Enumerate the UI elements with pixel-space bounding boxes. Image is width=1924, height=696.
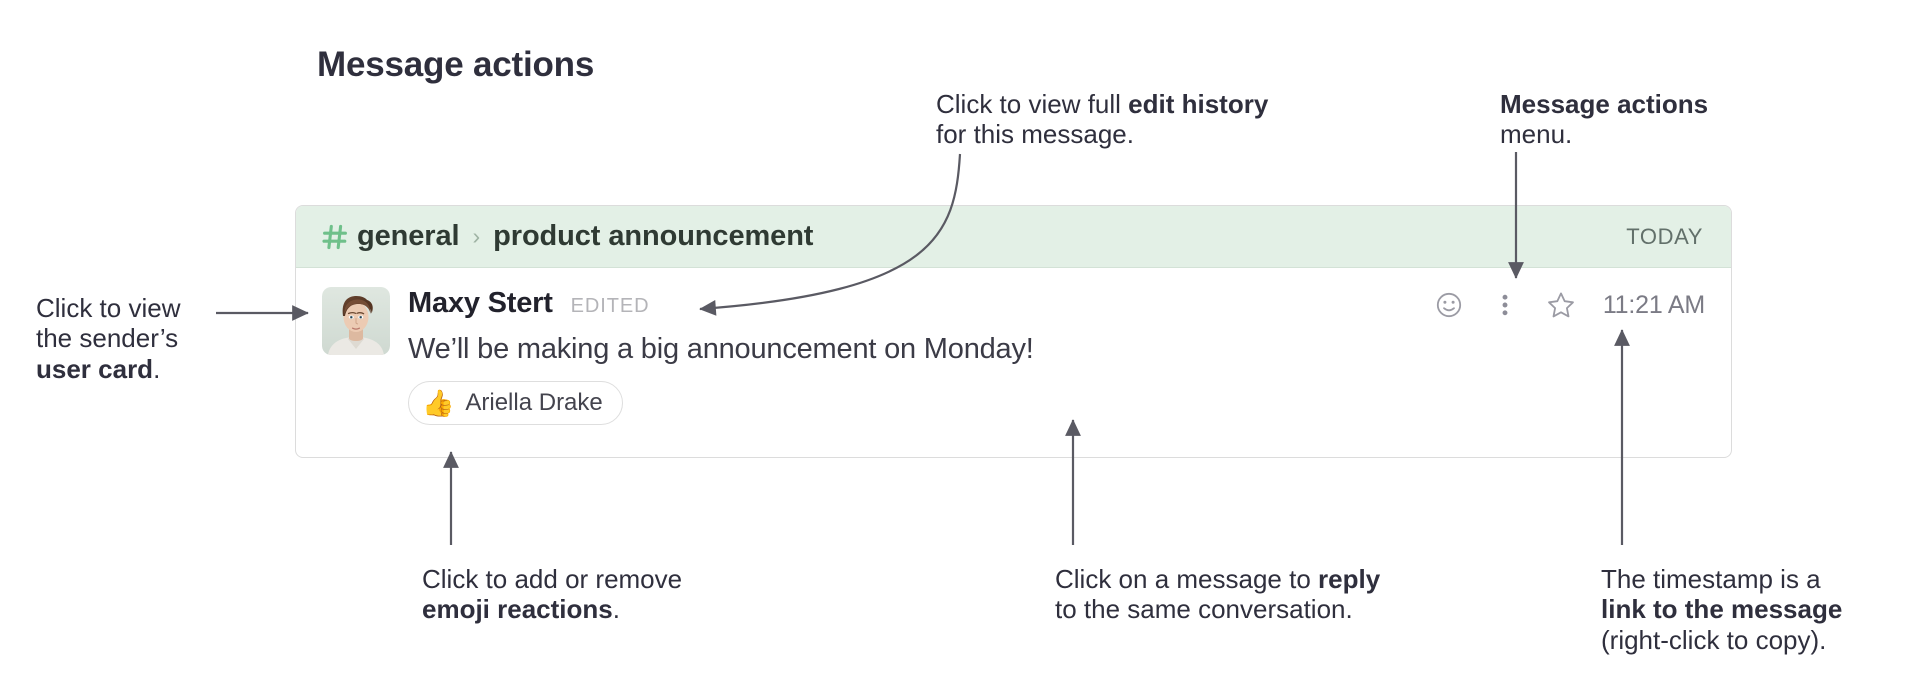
annotation-line: Click to view full edit history bbox=[936, 89, 1268, 119]
annotation-line: Click to view bbox=[36, 293, 180, 323]
annotation-edit-history: Click to view full edit history for this… bbox=[936, 89, 1268, 150]
annotation-emphasis: Message actions bbox=[1500, 89, 1708, 119]
annotation-line: to the same conversation. bbox=[1055, 594, 1380, 624]
annotation-line: menu. bbox=[1500, 119, 1708, 149]
annotation-tail: . bbox=[613, 594, 620, 624]
annotation-emphasis: edit history bbox=[1128, 89, 1268, 119]
annotation-line: (right-click to copy). bbox=[1601, 625, 1842, 655]
breadcrumb-separator-icon: › bbox=[472, 225, 480, 248]
hash-icon bbox=[322, 224, 348, 250]
recipient-bar: general › product announcement TODAY bbox=[296, 206, 1731, 268]
annotation-reply: Click on a message to reply to the same … bbox=[1055, 564, 1380, 625]
page-title: Message actions bbox=[317, 45, 594, 85]
annotation-emphasis: user card bbox=[36, 354, 153, 384]
stream-name[interactable]: general bbox=[357, 220, 459, 253]
sender-name[interactable]: Maxy Stert bbox=[408, 287, 553, 320]
annotation-line: for this message. bbox=[936, 119, 1268, 149]
annotation-lead: Click on a message to bbox=[1055, 564, 1318, 594]
annotation-emphasis: emoji reactions bbox=[422, 594, 613, 624]
annotation-tail: . bbox=[153, 354, 160, 384]
annotation-user-card: Click to view the sender’s user card. bbox=[36, 293, 180, 384]
avatar[interactable] bbox=[322, 287, 390, 355]
annotation-line: The timestamp is a bbox=[1601, 564, 1842, 594]
reaction-label: Ariella Drake bbox=[465, 389, 602, 417]
message-actions-icon[interactable] bbox=[1490, 290, 1520, 320]
annotation-timestamp: The timestamp is a link to the message (… bbox=[1601, 564, 1842, 655]
annotation-emphasis: link to the message bbox=[1601, 594, 1842, 624]
message-content[interactable]: We’ll be making a big announcement on Mo… bbox=[408, 332, 1705, 367]
annotation-actions-menu: Message actions menu. bbox=[1500, 89, 1708, 150]
annotation-lead: Click to view full bbox=[936, 89, 1128, 119]
topic-name[interactable]: product announcement bbox=[493, 220, 813, 253]
edited-badge[interactable]: EDITED bbox=[571, 295, 650, 318]
annotation-line: Click on a message to reply bbox=[1055, 564, 1380, 594]
annotation-line: Message actions bbox=[1500, 89, 1708, 119]
annotation-emphasis: reply bbox=[1318, 564, 1380, 594]
reactions-row: 👍 Ariella Drake bbox=[408, 381, 1705, 425]
recipient-date: TODAY bbox=[1626, 224, 1703, 250]
annotation-line: user card. bbox=[36, 354, 180, 384]
annotation-line: the sender’s bbox=[36, 323, 180, 353]
star-icon[interactable] bbox=[1546, 290, 1576, 320]
message-row[interactable]: Maxy Stert EDITED We’ll be making a big … bbox=[296, 268, 1731, 425]
annotation-emoji-reactions: Click to add or remove emoji reactions. bbox=[422, 564, 682, 625]
message-card: general › product announcement TODAY bbox=[295, 205, 1732, 458]
message-controls: 11:21 AM bbox=[1408, 290, 1705, 320]
message-timestamp[interactable]: 11:21 AM bbox=[1603, 291, 1705, 320]
annotation-line: link to the message bbox=[1601, 594, 1842, 624]
annotation-line: Click to add or remove bbox=[422, 564, 682, 594]
emoji-reaction-icon[interactable] bbox=[1434, 290, 1464, 320]
thumbs-up-emoji: 👍 bbox=[422, 390, 454, 416]
reaction-pill[interactable]: 👍 Ariella Drake bbox=[408, 381, 623, 425]
annotation-line: emoji reactions. bbox=[422, 594, 682, 624]
